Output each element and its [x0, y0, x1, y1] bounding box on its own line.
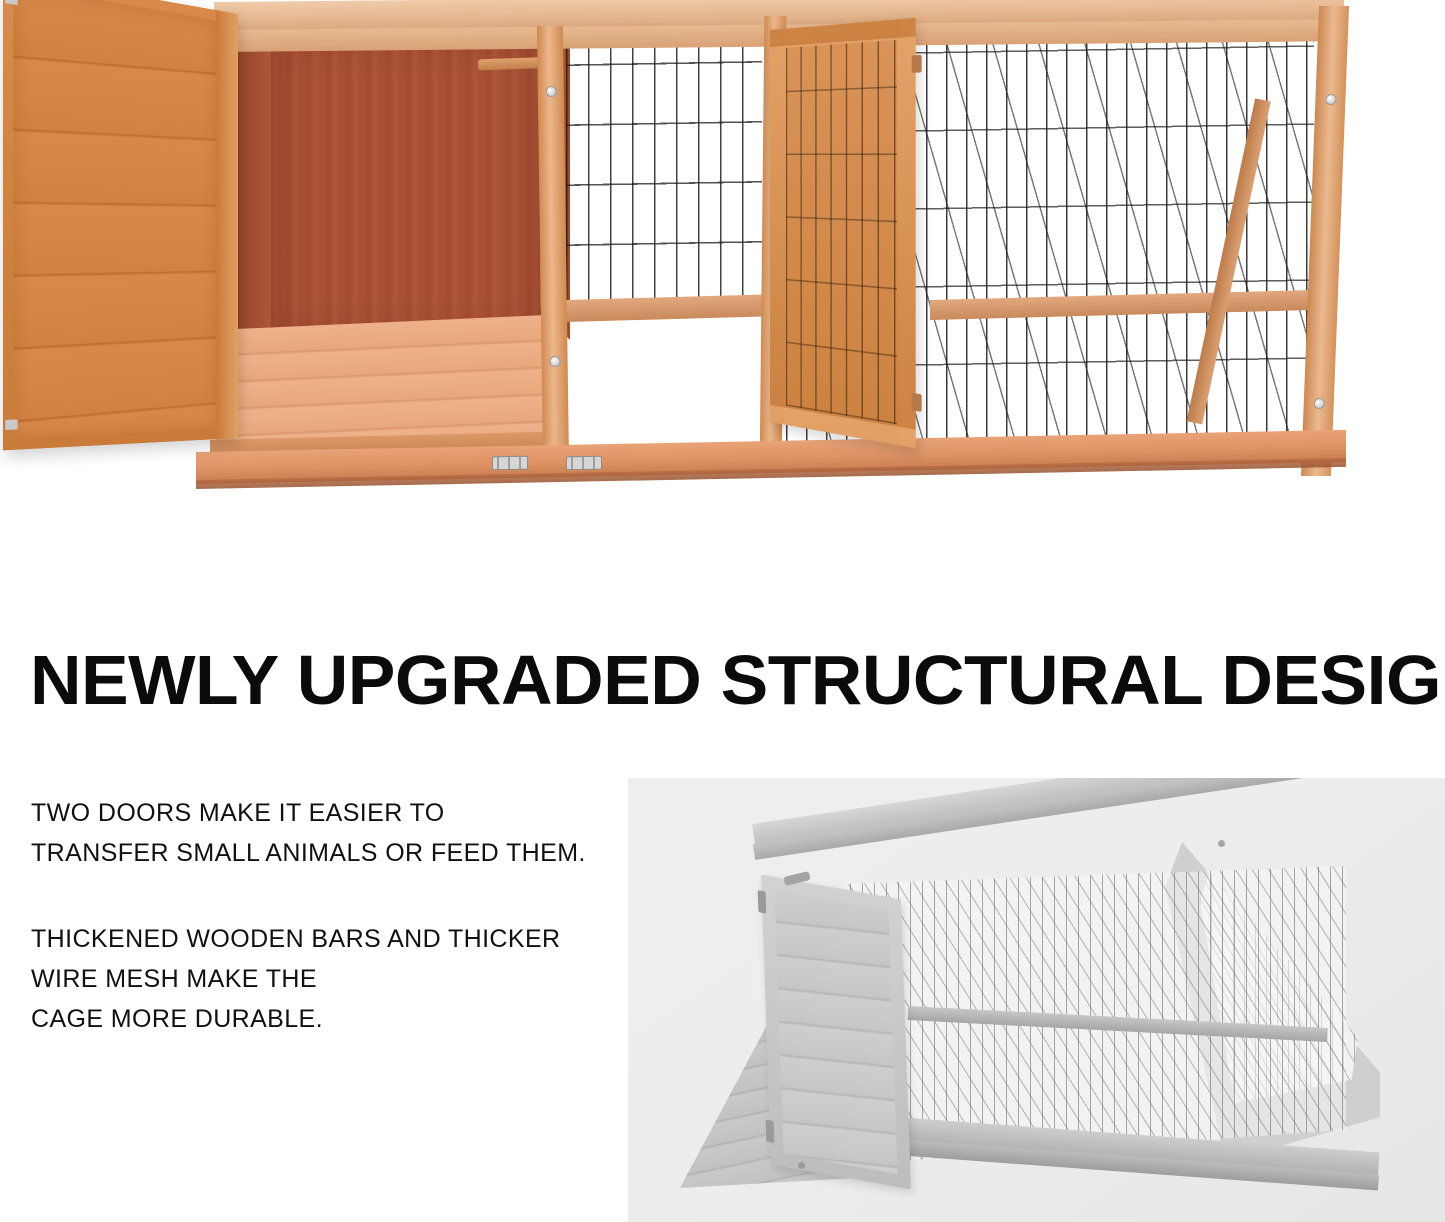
- feature-line: TWO DOORS MAKE IT EASIER TO: [31, 793, 616, 833]
- door-hinge-icon: [5, 419, 17, 430]
- feature-paragraph-thickened-bars: THICKENED WOODEN BARS AND THICKER WIRE M…: [31, 919, 616, 1039]
- mid-rail-left: [566, 294, 766, 322]
- secondary-product-image: [628, 778, 1445, 1222]
- screw-head-icon: [798, 1162, 805, 1169]
- feature-copy-block: TWO DOORS MAKE IT EASIER TO TRANSFER SMA…: [31, 793, 616, 1039]
- plank-door-open: [3, 0, 238, 450]
- feature-line: CAGE MORE DURABLE.: [31, 999, 616, 1039]
- interior-back-wall: [262, 22, 552, 352]
- screw-head-icon: [1325, 94, 1336, 105]
- plank-door-slats: [13, 0, 217, 439]
- screw-head-icon: [546, 86, 557, 97]
- a-frame-plank-door-open: [761, 875, 911, 1190]
- door-hinge-icon: [912, 393, 922, 412]
- wire-mesh-panel-left: [566, 41, 762, 306]
- screw-head-icon: [1218, 840, 1225, 847]
- base-hinge-icon: [492, 456, 528, 471]
- feature-line: TRANSFER SMALL ANIMALS OR FEED THEM.: [31, 833, 616, 873]
- page-headline: NEWLY UPGRADED STRUCTURAL DESIGN: [30, 645, 1445, 715]
- door-hinge-icon: [912, 55, 922, 73]
- door-hinge-icon: [766, 1120, 775, 1144]
- screw-head-icon: [550, 356, 561, 367]
- feature-line: THICKENED WOODEN BARS AND THICKER: [31, 919, 616, 959]
- feature-line: WIRE MESH MAKE THE: [31, 959, 616, 999]
- plank-door-stile: [216, 10, 238, 439]
- screw-head-icon: [1314, 398, 1325, 409]
- hero-product-image: [0, 0, 1445, 510]
- mesh-door-open: [770, 18, 916, 449]
- a-frame-hutch: [658, 810, 1398, 1190]
- door-hinge-icon: [758, 890, 767, 914]
- a-frame-door-slats: [774, 890, 897, 1174]
- base-hinge-icon: [566, 456, 602, 471]
- mesh-door-screen: [786, 40, 897, 424]
- feature-paragraph-two-doors: TWO DOORS MAKE IT EASIER TO TRANSFER SMA…: [31, 793, 616, 873]
- door-hinge-icon: [5, 0, 17, 5]
